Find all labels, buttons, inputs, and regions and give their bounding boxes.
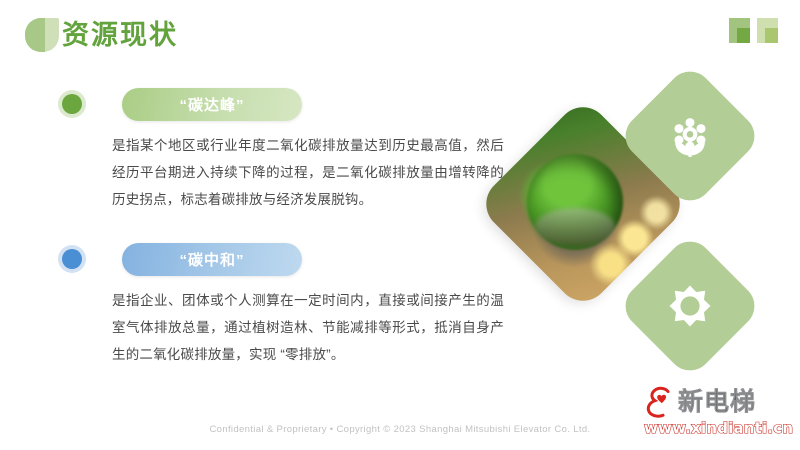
label-pill-carbon-peak[interactable]: “碳达峰” — [122, 88, 302, 121]
paragraph-carbon-neutral: 是指企业、团体或个人测算在一定时间内，直接或间接产生的温室气体排放总量，通过植树… — [112, 287, 504, 368]
logo-brand-name: 新电梯 — [678, 386, 756, 418]
corner-square-light — [757, 18, 778, 43]
sun-icon — [669, 285, 711, 327]
bullet-dot-carbon-peak — [62, 94, 82, 114]
bullet-dot-carbon-neutral — [62, 249, 82, 269]
leaf-icon-dark — [25, 18, 45, 52]
paragraph-carbon-peak: 是指某个地区或行业年度二氧化碳排放量达到历史最高值，然后经历平台期进入持续下降的… — [112, 132, 504, 213]
flower-icon — [669, 115, 711, 157]
corner-square-dark-inner — [737, 28, 750, 43]
logo-wordmark-row: 新电梯 — [644, 386, 756, 418]
logo-e-heart-icon — [644, 386, 674, 418]
label-pill-carbon-neutral[interactable]: “碳中和” — [122, 243, 302, 276]
corner-decoration — [729, 18, 778, 43]
logo-website-url: www.xindianti.cn — [644, 419, 793, 437]
page-header: 资源现状 — [0, 0, 800, 70]
page-title: 资源现状 — [62, 14, 178, 56]
corner-square-light-inner — [765, 28, 778, 43]
moss-globe-image — [527, 154, 623, 250]
corner-square-dark — [729, 18, 750, 43]
leaf-icon — [25, 18, 59, 52]
xindianti-logo[interactable]: 新电梯 www.xindianti.cn — [644, 386, 792, 442]
